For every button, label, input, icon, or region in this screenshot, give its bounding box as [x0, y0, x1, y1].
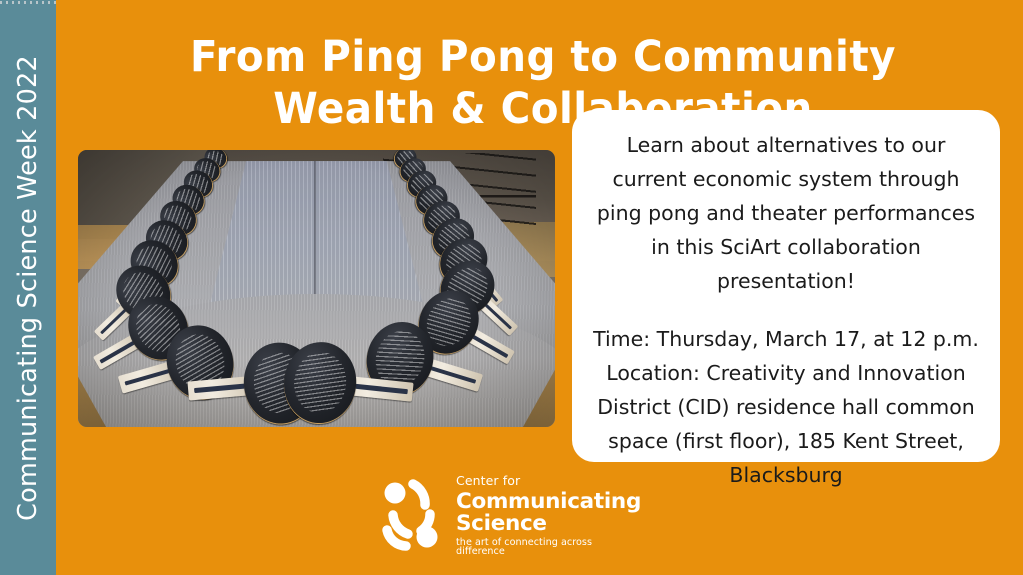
ping-pong-paddle	[280, 339, 416, 427]
sidebar-dotted-rule	[0, 1, 56, 4]
event-location: Location: Creativity and Innovation Dist…	[592, 356, 980, 492]
logo-line-center-for: Center for	[456, 475, 641, 488]
event-flyer: Communicating Science Week 2022 From Pin…	[0, 0, 1023, 575]
ccs-logo: Center for Communicating Science the art…	[378, 476, 610, 554]
logo-line-science: Science	[456, 513, 641, 535]
photo-scene	[78, 150, 555, 427]
card-spacer	[592, 298, 980, 322]
event-photo	[78, 150, 555, 427]
paddle-blade	[280, 339, 360, 427]
logo-line-communicating: Communicating	[456, 491, 641, 513]
ccs-logo-text: Center for Communicating Science the art…	[456, 473, 641, 557]
sidebar-label: Communicating Science Week 2022	[13, 55, 43, 521]
ccs-logo-mark-icon	[378, 479, 444, 551]
event-description: Learn about alternatives to our current …	[592, 128, 980, 298]
event-time: Time: Thursday, March 17, at 12 p.m.	[592, 322, 980, 356]
photo-table-seam	[314, 161, 316, 316]
logo-tagline: the art of connecting across difference	[456, 538, 641, 557]
event-details-card: Learn about alternatives to our current …	[572, 110, 1000, 462]
sidebar-banner: Communicating Science Week 2022	[0, 0, 56, 575]
